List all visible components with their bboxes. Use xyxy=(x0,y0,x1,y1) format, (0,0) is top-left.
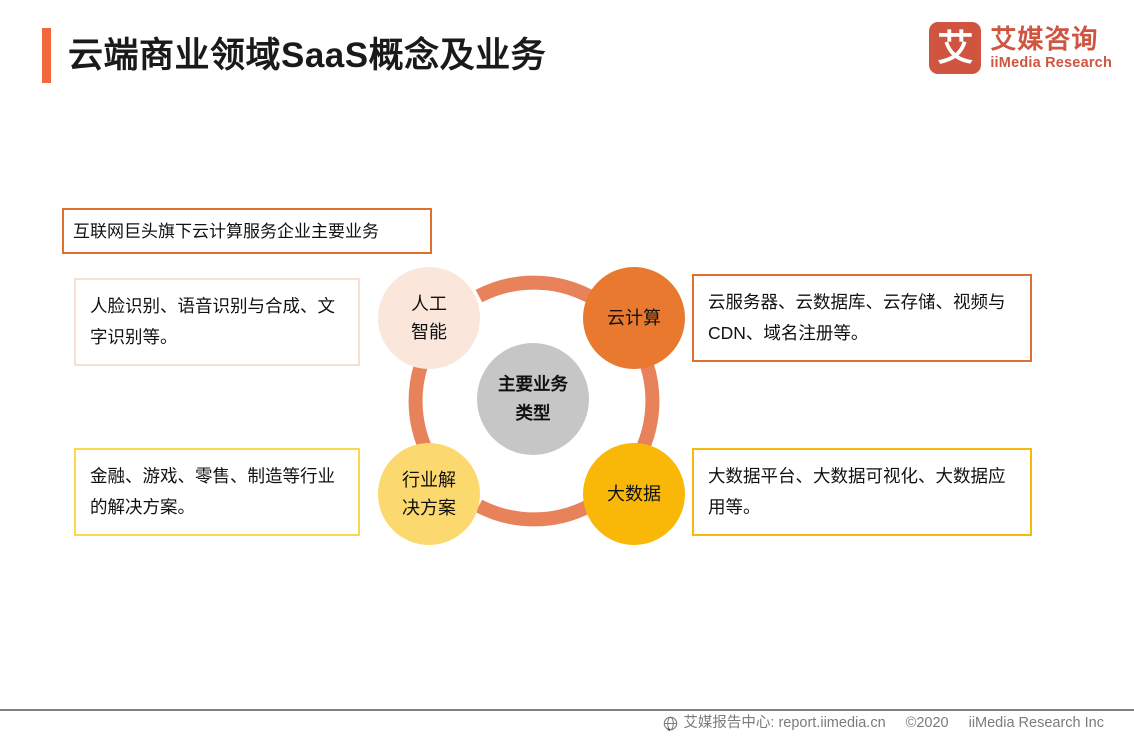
page-header: 云端商业领域SaaS概念及业务 艾 艾媒咨询 iiMedia Research xyxy=(0,0,1134,110)
footer: 艾媒报告中心: report.iimedia.cn ©2020 iiMedia … xyxy=(663,713,1104,733)
bubble-bigdata-line1: 大数据 xyxy=(607,480,661,508)
wheel-center-label: 主要业务 类型 xyxy=(477,343,589,455)
footer-company: iiMedia Research Inc xyxy=(969,713,1104,733)
callout-bigdata: 大数据平台、大数据可视化、大数据应用等。 xyxy=(692,448,1032,536)
footer-copyright: ©2020 xyxy=(906,713,949,733)
callout-ai: 人脸识别、语音识别与合成、文字识别等。 xyxy=(74,278,360,366)
logo-mark-icon: 艾 xyxy=(929,22,981,74)
logo-text: 艾媒咨询 iiMedia Research xyxy=(990,25,1112,72)
bubble-industry[interactable]: 行业解 决方案 xyxy=(378,443,480,545)
callout-industry: 金融、游戏、零售、制造等行业的解决方案。 xyxy=(74,448,360,536)
footer-divider xyxy=(0,709,1134,711)
title-accent-bar xyxy=(42,28,51,83)
callout-cloud: 云服务器、云数据库、云存储、视频与CDN、域名注册等。 xyxy=(692,274,1032,362)
wheel-center-line1: 主要业务 xyxy=(498,370,568,399)
logo-name-en: iiMedia Research xyxy=(990,54,1112,72)
bubble-ai-line2: 智能 xyxy=(411,318,447,346)
footer-source: 艾媒报告中心: report.iimedia.cn xyxy=(683,713,885,733)
section-label-text: 互联网巨头旗下云计算服务企业主要业务 xyxy=(73,216,379,247)
bubble-cloud-line1: 云计算 xyxy=(607,304,661,332)
page-title: 云端商业领域SaaS概念及业务 xyxy=(68,28,546,83)
callout-bigdata-text: 大数据平台、大数据可视化、大数据应用等。 xyxy=(708,461,1016,523)
wheel-center-line2: 类型 xyxy=(516,399,551,428)
callout-cloud-text: 云服务器、云数据库、云存储、视频与CDN、域名注册等。 xyxy=(708,287,1016,349)
callout-industry-text: 金融、游戏、零售、制造等行业的解决方案。 xyxy=(90,461,344,523)
callout-ai-text: 人脸识别、语音识别与合成、文字识别等。 xyxy=(90,291,344,353)
ring-arc-top xyxy=(479,283,589,297)
bubble-industry-line2: 决方案 xyxy=(402,494,456,522)
section-label-box: 互联网巨头旗下云计算服务企业主要业务 xyxy=(62,208,432,254)
ring-arc-bottom xyxy=(479,506,589,520)
bubble-cloud[interactable]: 云计算 xyxy=(583,267,685,369)
brand-logo: 艾 艾媒咨询 iiMedia Research xyxy=(929,22,1112,74)
bubble-bigdata[interactable]: 大数据 xyxy=(583,443,685,545)
bubble-ai[interactable]: 人工 智能 xyxy=(378,267,480,369)
logo-name-cn: 艾媒咨询 xyxy=(990,25,1112,54)
globe-icon xyxy=(663,716,678,731)
bubble-ai-line1: 人工 xyxy=(411,290,447,318)
bubble-industry-line1: 行业解 xyxy=(402,466,456,494)
